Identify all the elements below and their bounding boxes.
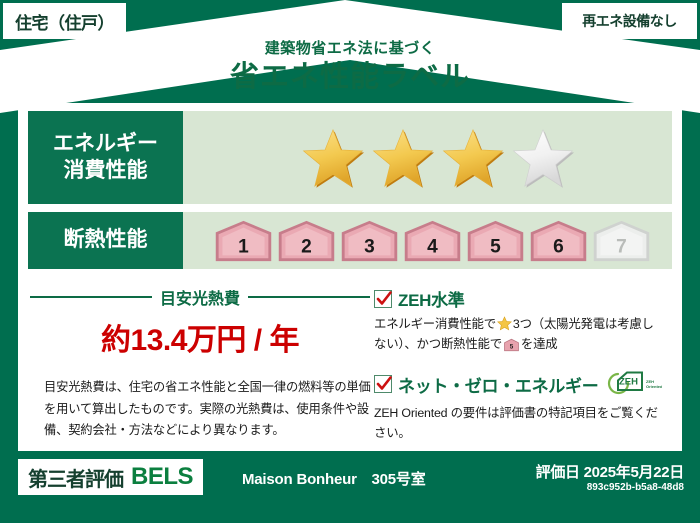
house-empty-icon: 7 (591, 219, 652, 263)
svg-text:6: 6 (553, 236, 564, 257)
cost-section: 目安光熱費 約13.4万円 / 年 目安光熱費は、住宅の省エネ性能と全国一律の燃… (18, 279, 370, 451)
row-energy-performance: エネルギー 消費性能 (28, 111, 672, 204)
svg-text:ZEH: ZEH (619, 376, 638, 387)
house-rating: 1234567 (183, 212, 672, 269)
check-head-net-zero: ネット・ゼロ・エネルギー ZEH ZEH Oriented (374, 369, 682, 400)
inline-house-badge: 5 (504, 341, 519, 355)
checks-section: ZEH水準 エネルギー消費性能で3つ（太陽光発電は考慮しない）、かつ断熱性能で5… (370, 279, 682, 451)
row-energy-label-line1: エネルギー (53, 131, 158, 157)
svg-text:5: 5 (510, 343, 514, 350)
svg-text:4: 4 (427, 236, 438, 257)
check-block-zeh-level: ZEH水準 エネルギー消費性能で3つ（太陽光発電は考慮しない）、かつ断熱性能で5… (374, 286, 682, 359)
svg-text:5: 5 (490, 236, 501, 257)
star-filled-icon (300, 126, 366, 190)
svg-text:7: 7 (616, 236, 627, 257)
row-energy-label: エネルギー 消費性能 (28, 111, 183, 204)
evaluation-date: 評価日 2025年5月22日 (536, 461, 684, 482)
building-name: Maison Bonheur 305号室 (242, 468, 426, 489)
evaluation-id: 893c952b-b5a8-48d8 (587, 482, 684, 493)
cost-rule-right (248, 296, 370, 298)
check-head-zeh-level: ZEH水準 (374, 286, 682, 311)
check-title-zeh-level: ZEH水準 (398, 286, 465, 311)
tag-housing-type: 住宅（住戸） (3, 3, 126, 39)
title-subtitle: 建築物省エネ法に基づく (0, 40, 700, 58)
cost-heading-label: 目安光熱費 (160, 285, 240, 309)
star-rating (183, 111, 672, 204)
card-bottom: 目安光熱費 約13.4万円 / 年 目安光熱費は、住宅の省エネ性能と全国一律の燃… (18, 279, 682, 451)
check-body-zeh-text3: を達成 (521, 337, 558, 351)
tag-renewable-energy: 再エネ設備なし (562, 3, 697, 39)
title-main: 省エネ性能ラベル (0, 59, 700, 95)
check-body-zeh-level: エネルギー消費性能で3つ（太陽光発電は考慮しない）、かつ断熱性能で5を達成 (374, 315, 664, 359)
energy-performance-label: 住宅（住戸） 再エネ設備なし 建築物省エネ法に基づく 省エネ性能ラベル エネルギ… (0, 0, 700, 523)
title-block: 建築物省エネ法に基づく 省エネ性能ラベル (0, 40, 700, 95)
zeh-oriented-logo-icon: ZEH ZEH Oriented (606, 369, 662, 400)
house-filled-icon: 4 (402, 219, 463, 263)
house-filled-icon: 2 (276, 219, 337, 263)
row-insulation-performance: 断熱性能 1234567 (28, 212, 672, 269)
footer: 第三者評価 BELS Maison Bonheur 305号室 評価日 2025… (0, 451, 700, 523)
check-body-zeh-text1: エネルギー消費性能で (374, 317, 496, 331)
svg-text:3: 3 (364, 236, 375, 257)
cost-heading: 目安光熱費 (30, 285, 370, 309)
svg-text:2: 2 (301, 236, 312, 257)
cost-value: 約13.4万円 / 年 (30, 315, 370, 359)
row-energy-label-line2: 消費性能 (64, 158, 148, 184)
label-card: エネルギー 消費性能 断熱性能 1234567 目安光熱費 約13.4万円 / … (18, 103, 682, 451)
check-title-net-zero: ネット・ゼロ・エネルギー (398, 372, 598, 397)
inline-star-icon (497, 316, 512, 331)
check-body-net-zero: ZEH Oriented の要件は評価書の特記項目をご覧ください。 (374, 404, 664, 444)
row-insulation-label: 断熱性能 (28, 212, 183, 269)
house-filled-icon: 3 (339, 219, 400, 263)
star-empty-icon (510, 126, 576, 190)
house-filled-icon: 5 (465, 219, 526, 263)
house-filled-icon: 6 (528, 219, 589, 263)
cost-note: 目安光熱費は、住宅の省エネ性能と全国一律の燃料等の単価を用いて算出したものです。… (44, 377, 380, 442)
bels-en-label: BELS (131, 463, 193, 491)
checkbox-checked-icon (374, 290, 392, 308)
star-filled-icon (370, 126, 436, 190)
tag-renewable-energy-label: 再エネ設備なし (582, 11, 677, 31)
svg-text:Oriented: Oriented (646, 384, 662, 389)
house-filled-icon: 1 (213, 219, 274, 263)
check-block-net-zero-energy: ネット・ゼロ・エネルギー ZEH ZEH Oriented ZEH Orient… (374, 369, 682, 444)
row-insulation-label-line1: 断熱性能 (64, 227, 148, 253)
cost-rule-left (30, 296, 152, 298)
bels-badge: 第三者評価 BELS (18, 459, 203, 495)
bels-jp-label: 第三者評価 (28, 463, 123, 492)
checkbox-checked-icon (374, 375, 392, 393)
star-filled-icon (440, 126, 506, 190)
tag-housing-type-label: 住宅（住戸） (15, 9, 114, 34)
svg-text:1: 1 (238, 236, 249, 257)
